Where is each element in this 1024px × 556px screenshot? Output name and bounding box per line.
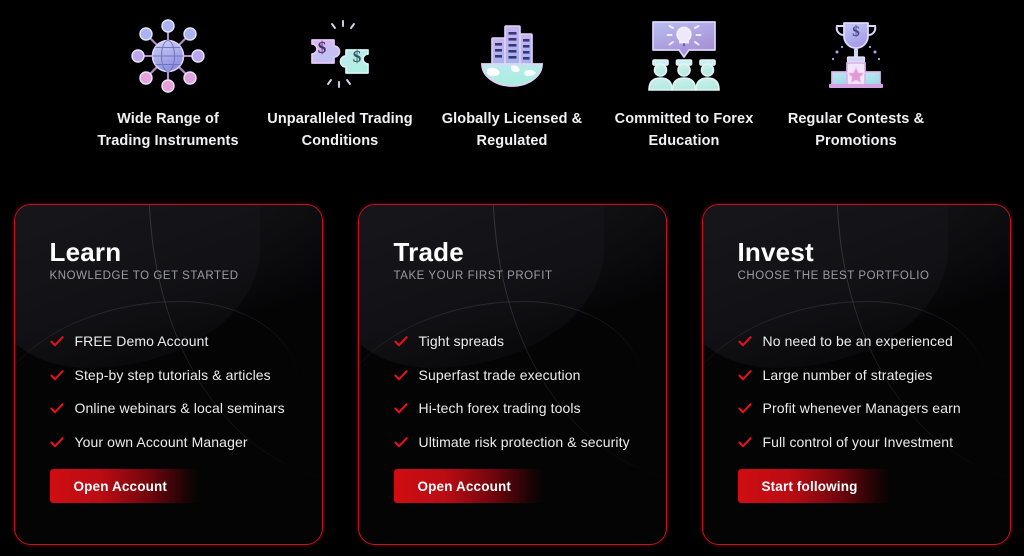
list-item: Full control of your Investment (738, 434, 1010, 451)
list-item: Tight spreads (394, 333, 666, 350)
list-item-label: Superfast trade execution (419, 367, 581, 384)
feature-label: Globally Licensed & Regulated (442, 108, 583, 152)
list-item-label: Hi-tech forex trading tools (419, 400, 581, 417)
list-item-label: Ultimate risk protection & security (419, 434, 630, 451)
list-item: Step-by step tutorials & articles (50, 367, 322, 384)
list-item: Large number of strategies (738, 367, 1010, 384)
list-item-label: Full control of your Investment (763, 434, 954, 451)
list-item-label: FREE Demo Account (75, 333, 209, 350)
list-item-label: Large number of strategies (763, 367, 933, 384)
check-icon (394, 369, 408, 383)
list-item: Hi-tech forex trading tools (394, 400, 666, 417)
people-lightbulb-icon (642, 14, 726, 98)
check-icon (50, 436, 64, 450)
check-icon (50, 402, 64, 416)
feature-item-globally-licensed[interactable]: Globally Licensed & Regulated (426, 0, 598, 152)
list-item: Your own Account Manager (50, 434, 322, 451)
features-row: Wide Range of Trading Instruments $ $ (0, 0, 1024, 172)
card-subtitle: TAKE YOUR FIRST PROFIT (394, 270, 666, 282)
check-icon (50, 335, 64, 349)
trophy-podium-icon: $ (814, 14, 898, 98)
card-invest[interactable]: Invest CHOOSE THE BEST PORTFOLIO No need… (702, 204, 1011, 545)
open-account-button[interactable]: Open Account (394, 469, 544, 503)
feature-item-contests-promotions[interactable]: $ Regular Contests & Promotions (770, 0, 942, 152)
svg-text:$: $ (353, 47, 362, 66)
card-subtitle: KNOWLEDGE TO GET STARTED (50, 270, 322, 282)
list-item: No need to be an experienced (738, 333, 1010, 350)
card-subtitle: CHOOSE THE BEST PORTFOLIO (738, 270, 1010, 282)
feature-item-wide-range[interactable]: Wide Range of Trading Instruments (82, 0, 254, 152)
card-learn[interactable]: Learn KNOWLEDGE TO GET STARTED FREE Demo… (14, 204, 323, 545)
card-feature-list: No need to be an experienced Large numbe… (738, 333, 1010, 451)
globe-network-icon (126, 14, 210, 98)
feature-label: Wide Range of Trading Instruments (97, 108, 238, 152)
list-item: FREE Demo Account (50, 333, 322, 350)
svg-text:$: $ (318, 38, 327, 57)
feature-label: Regular Contests & Promotions (788, 108, 924, 152)
check-icon (738, 335, 752, 349)
check-icon (738, 436, 752, 450)
list-item: Profit whenever Managers earn (738, 400, 1010, 417)
feature-item-unparalleled-conditions[interactable]: $ $ Unparalleled Trading Conditions (254, 0, 426, 152)
card-feature-list: Tight spreads Superfast trade execution … (394, 333, 666, 451)
svg-text:$: $ (852, 24, 860, 40)
check-icon (394, 335, 408, 349)
list-item-label: Step-by step tutorials & articles (75, 367, 271, 384)
globe-buildings-icon (470, 14, 554, 98)
card-title: Invest (738, 237, 1010, 267)
card-title: Trade (394, 237, 666, 267)
cards-row: Learn KNOWLEDGE TO GET STARTED FREE Demo… (0, 204, 1024, 549)
card-title: Learn (50, 237, 322, 267)
list-item-label: Profit whenever Managers earn (763, 400, 961, 417)
list-item-label: Tight spreads (419, 333, 505, 350)
open-account-button[interactable]: Open Account (50, 469, 200, 503)
check-icon (738, 369, 752, 383)
card-trade[interactable]: Trade TAKE YOUR FIRST PROFIT Tight sprea… (358, 204, 667, 545)
feature-label: Unparalleled Trading Conditions (267, 108, 412, 152)
check-icon (394, 402, 408, 416)
card-feature-list: FREE Demo Account Step-by step tutorials… (50, 333, 322, 451)
list-item: Ultimate risk protection & security (394, 434, 666, 451)
puzzle-dollar-icon: $ $ (298, 14, 382, 98)
check-icon (394, 436, 408, 450)
check-icon (50, 369, 64, 383)
list-item-label: Online webinars & local seminars (75, 400, 285, 417)
list-item-label: No need to be an experienced (763, 333, 953, 350)
feature-label: Committed to Forex Education (615, 108, 754, 152)
list-item: Superfast trade execution (394, 367, 666, 384)
list-item: Online webinars & local seminars (50, 400, 322, 417)
check-icon (738, 402, 752, 416)
start-following-button[interactable]: Start following (738, 469, 890, 503)
feature-item-forex-education[interactable]: Committed to Forex Education (598, 0, 770, 152)
list-item-label: Your own Account Manager (75, 434, 248, 451)
